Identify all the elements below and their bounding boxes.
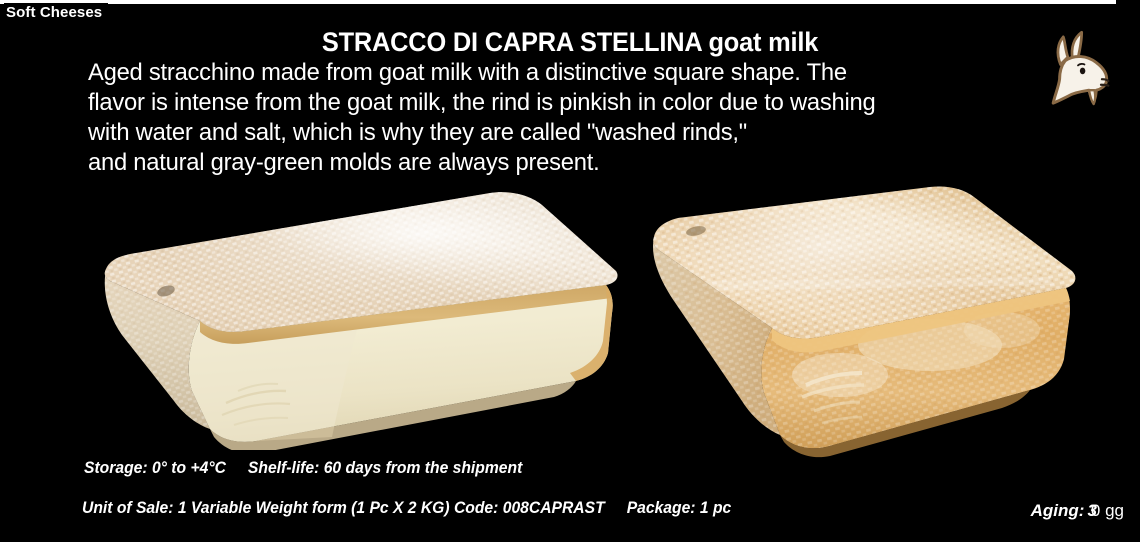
storage-shelflife-line: Storage: 0° to +4°C Shelf-life: 60 days … xyxy=(84,459,522,478)
page-title: STRACCO DI CAPRA STELLINA goat milk xyxy=(34,27,1106,58)
code-value: 008CAPRAST xyxy=(503,499,605,517)
package-label: Package: xyxy=(627,499,696,517)
product-sheet: Soft Cheeses STRACCO DI CAPRA STELLINA g… xyxy=(0,0,1140,542)
storage-value: 0° to +4°C xyxy=(152,459,226,477)
aging-unit: 0 gg xyxy=(1091,501,1124,520)
description-line-3: with water and salt, which is why they a… xyxy=(88,118,1029,148)
description-line-2: flavor is intense from the goat milk, th… xyxy=(88,88,1029,118)
shelflife-value: 60 days from the shipment xyxy=(324,459,523,477)
code-label: Code: xyxy=(454,499,498,517)
cheese-cut-block-image xyxy=(60,185,640,450)
package-value: 1 pc xyxy=(700,499,731,517)
aging-label: Aging: xyxy=(1031,501,1085,520)
product-description: Aged stracchino made from goat milk with… xyxy=(88,58,1029,178)
category-banner: Soft Cheeses xyxy=(4,3,108,23)
description-line-4: and natural gray-green molds are always … xyxy=(88,148,1029,178)
shelflife-label: Shelf-life: xyxy=(248,459,319,477)
storage-label: Storage: xyxy=(84,459,148,477)
aging-line: Aging:30 gg xyxy=(1031,501,1124,521)
top-divider-rule xyxy=(0,0,1116,4)
unit-of-sale-value: 1 Variable Weight form (1 Pc X 2 KG) xyxy=(178,499,450,517)
unit-of-sale-label: Unit of Sale: xyxy=(82,499,173,517)
unit-code-package-line: Unit of Sale: 1 Variable Weight form (1 … xyxy=(82,499,731,518)
cheese-whole-square-image xyxy=(630,185,1100,460)
description-line-1: Aged stracchino made from goat milk with… xyxy=(88,58,1029,88)
goat-head-icon xyxy=(1032,24,1124,116)
